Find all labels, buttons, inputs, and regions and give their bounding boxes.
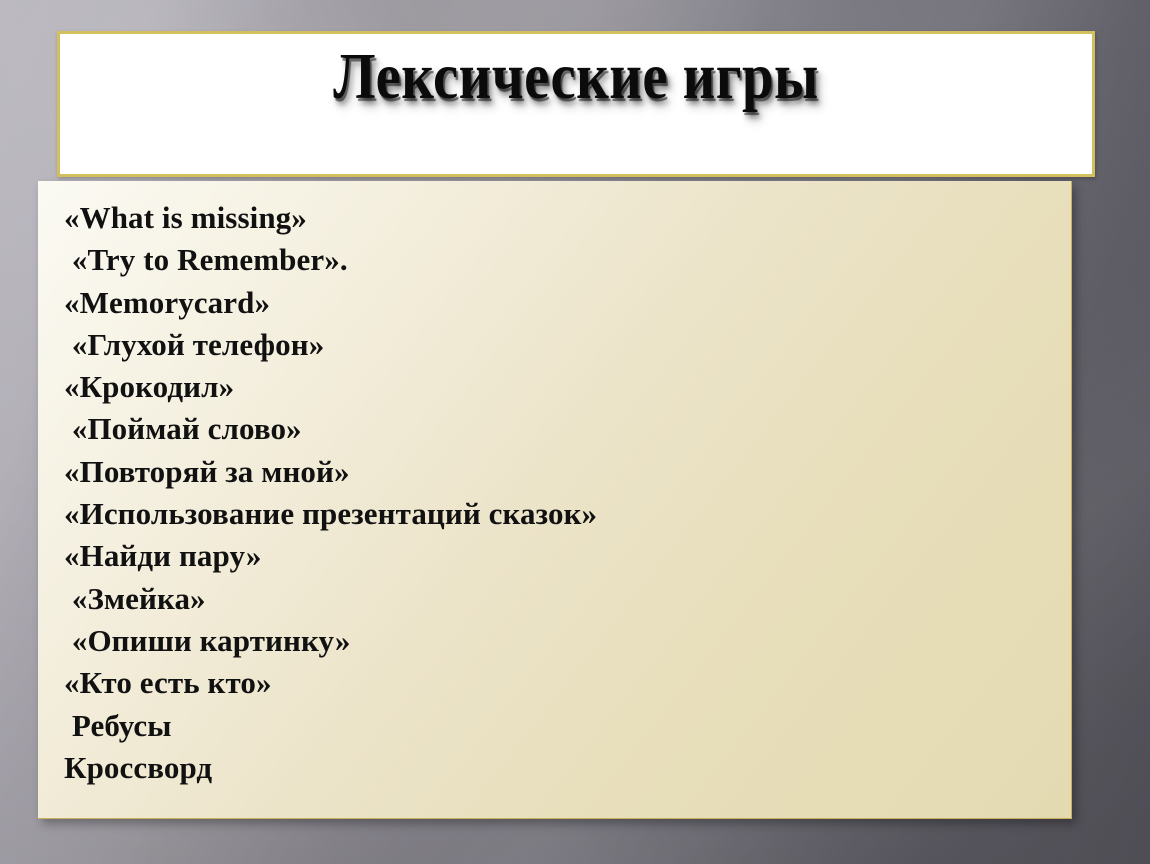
list-item: «Змейка» [64, 578, 1061, 620]
list-item: «Повторяй за мной» [64, 451, 1061, 493]
list-item: «Поймай слово» [64, 408, 1061, 450]
list-item: «Try to Remember». [64, 239, 1061, 281]
list-item: «Крокодил» [64, 366, 1061, 408]
list-item: «Опиши картинку» [64, 620, 1061, 662]
list-item: Кроссворд [64, 747, 1061, 789]
list-item: «Memorycard» [64, 282, 1061, 324]
list-item: «Глухой телефон» [64, 324, 1061, 366]
list-item: Ребусы [64, 705, 1061, 747]
list-item: «Найди пару» [64, 535, 1061, 577]
list-item: «Использование презентаций сказок» [64, 493, 1061, 535]
title-box: Лексические игры [57, 31, 1095, 177]
content-box: «What is missing» «Try to Remember».«Mem… [38, 181, 1072, 819]
list-item: «Кто есть кто» [64, 662, 1061, 704]
list-item: «What is missing» [64, 197, 1061, 239]
game-list: «What is missing» «Try to Remember».«Mem… [64, 197, 1061, 789]
slide: Лексические игры «What is missing» «Try … [0, 0, 1150, 864]
page-title: Лексические игры [132, 44, 1020, 110]
